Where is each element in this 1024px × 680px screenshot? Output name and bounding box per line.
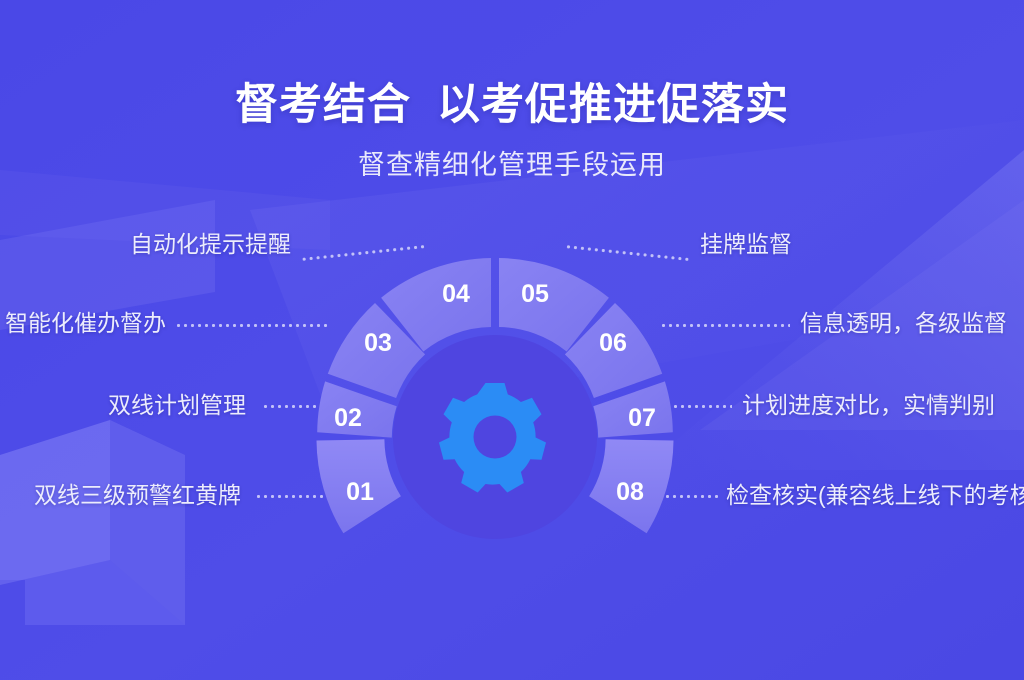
wheel-number-04: 04 [442,280,470,308]
page-subtitle: 督查精细化管理手段运用 [0,152,1024,179]
wheel-number-02: 02 [334,404,362,432]
wheel-number-01: 01 [346,478,374,506]
process-wheel: 01 02 03 04 05 06 07 08 [308,250,682,550]
wheel-number-03: 03 [364,329,392,357]
wheel-label-06[interactable]: 信息透明，各级监督 [800,312,1007,335]
wheel-label-01[interactable]: 双线三级预警红黄牌 [0,484,241,507]
wheel-label-03[interactable]: 智能化催办督办 [0,312,166,335]
wheel-label-04[interactable]: 自动化提示提醒 [0,233,291,256]
page-title: 督考结合 以考促推进促落实 [0,84,1024,127]
connector-line-03 [175,324,330,327]
wheel-label-08[interactable]: 检查核实(兼容线上线下的考核 [726,484,1024,507]
wheel-label-05[interactable]: 挂牌监督 [700,233,792,256]
wheel-label-02[interactable]: 双线计划管理 [0,394,246,417]
wheel-number-05: 05 [521,280,549,308]
wheel-number-07: 07 [628,404,656,432]
wheel-label-07[interactable]: 计划进度对比，实情判别 [742,394,995,417]
wheel-number-08: 08 [616,478,644,506]
wheel-number-06: 06 [599,329,627,357]
